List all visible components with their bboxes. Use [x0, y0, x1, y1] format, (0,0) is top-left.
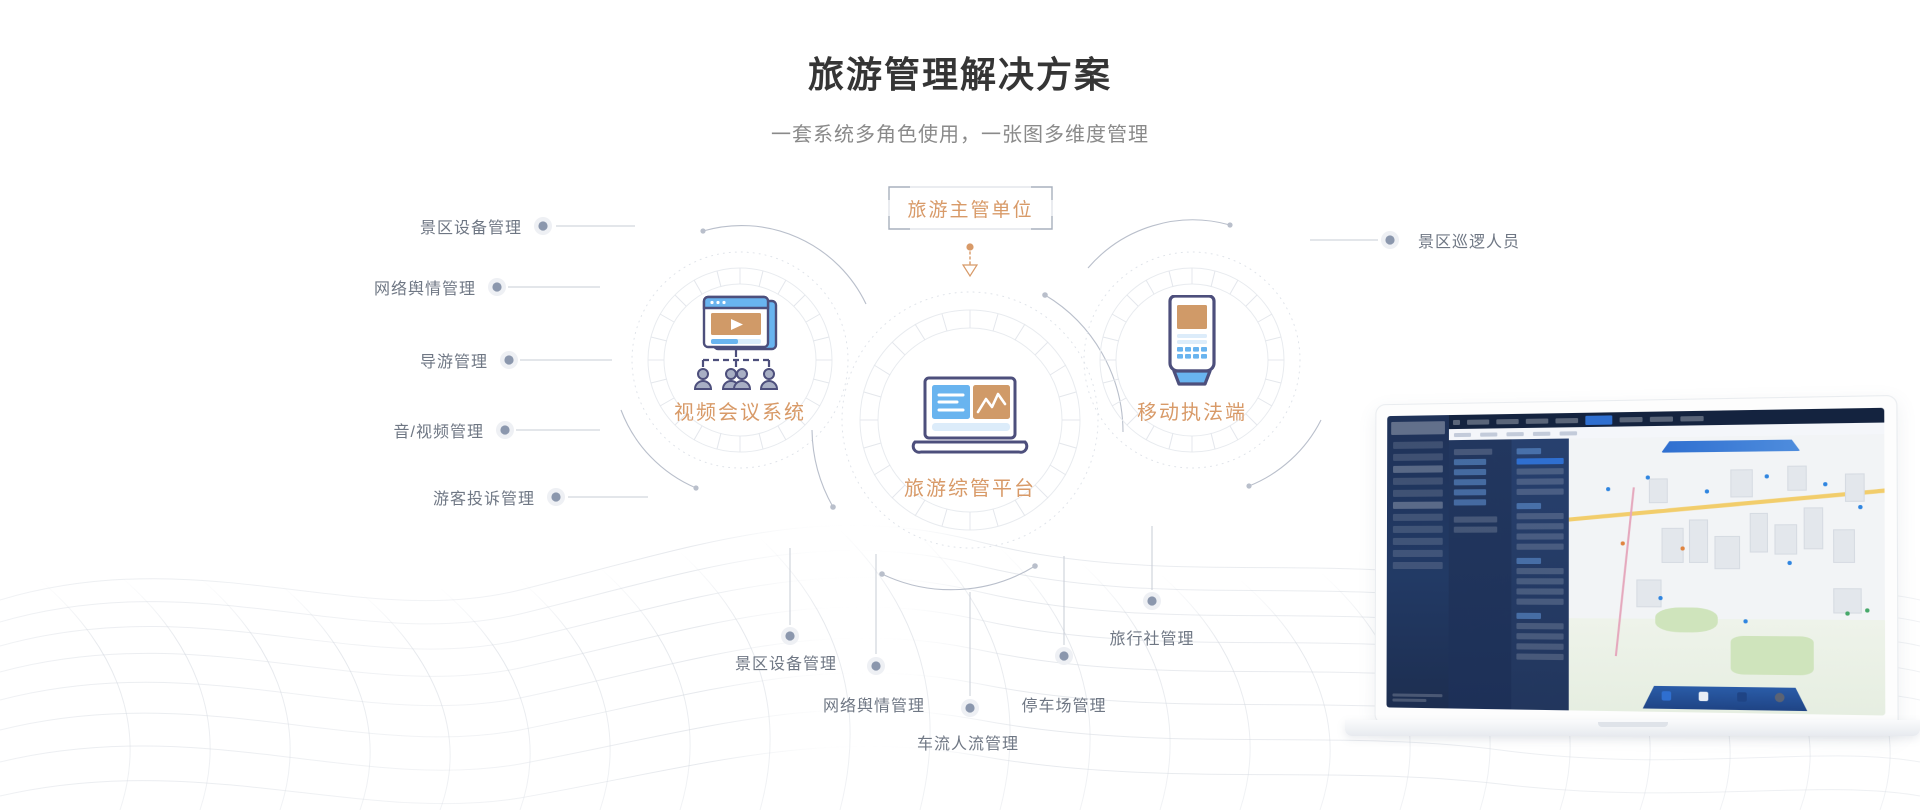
laptop-lid	[1375, 395, 1899, 734]
left-spoke-dots	[488, 217, 565, 506]
mockup-sidebar-item	[1393, 526, 1443, 533]
mockup-sidebar-item	[1393, 550, 1443, 557]
node-label-mobile-enforcement: 移动执法端	[1137, 396, 1247, 425]
mockup-sidebar-item	[1393, 441, 1443, 449]
video-conference-icon	[681, 294, 799, 400]
mockup-sidebar-item	[1393, 562, 1443, 569]
node-label-tourism-platform: 旅游综管平台	[904, 472, 1036, 501]
mockup-sidebar-item	[1393, 477, 1443, 484]
mockup-sidebar-item	[1393, 514, 1443, 521]
left-label-1[interactable]: 网络舆情管理	[374, 275, 476, 299]
mockup-gis-map	[1569, 434, 1886, 715]
left-label-0[interactable]: 景区设备管理	[420, 214, 522, 238]
laptop-screen	[1386, 408, 1885, 716]
bottom-spoke-connectors	[790, 526, 1152, 696]
bottom-label-3[interactable]: 停车场管理	[1021, 692, 1106, 716]
right-spoke-connectors	[1310, 231, 1399, 249]
authority-badge-label: 旅游主管单位	[888, 186, 1053, 230]
left-spoke-connectors	[508, 226, 648, 497]
left-label-4[interactable]: 游客投诉管理	[433, 485, 535, 509]
mockup-map-toolbar	[1661, 439, 1800, 452]
node-label-video-conference: 视频会议系统	[674, 396, 806, 425]
mockup-sidebar-item	[1393, 490, 1443, 497]
mockup-sidebar-footer	[1386, 691, 1448, 708]
page-subtitle: 一套系统多角色使用，一张图多维度管理	[0, 118, 1920, 147]
mockup-sidebar-item	[1393, 502, 1443, 509]
mockup-logo	[1391, 421, 1445, 435]
mockup-tree-panel	[1448, 439, 1511, 709]
laptop-mockup	[1345, 404, 1920, 789]
page-header: 旅游管理解决方案 一套系统多角色使用，一张图多维度管理	[0, 0, 1920, 147]
mockup-sidebar-item	[1393, 465, 1443, 473]
mockup-sidebar-item	[1393, 538, 1443, 545]
bottom-label-4[interactable]: 旅行社管理	[1109, 625, 1194, 649]
left-label-2[interactable]: 导游管理	[420, 348, 488, 372]
left-label-3[interactable]: 音/视频管理	[394, 418, 484, 442]
bottom-label-0[interactable]: 景区设备管理	[735, 650, 837, 674]
mockup-sidebar-item	[1393, 453, 1443, 461]
mockup-sidebar	[1386, 415, 1448, 708]
right-label-0[interactable]: 景区巡逻人员	[1418, 228, 1520, 252]
mockup-main	[1448, 408, 1885, 716]
handheld-device-icon	[1154, 295, 1230, 395]
laptop-notch	[1598, 722, 1668, 727]
authority-badge[interactable]: 旅游主管单位	[888, 186, 1053, 230]
bottom-label-2[interactable]: 车流人流管理	[917, 730, 1019, 754]
badge-connector	[963, 243, 977, 276]
page-title: 旅游管理解决方案	[0, 46, 1920, 98]
bottom-label-1[interactable]: 网络舆情管理	[823, 692, 925, 716]
laptop-dashboard-icon	[905, 374, 1035, 466]
solution-diagram-page: 旅游管理解决方案 一套系统多角色使用，一张图多维度管理	[0, 0, 1920, 810]
mockup-layer-panel	[1511, 439, 1569, 711]
mockup-body	[1448, 434, 1885, 715]
